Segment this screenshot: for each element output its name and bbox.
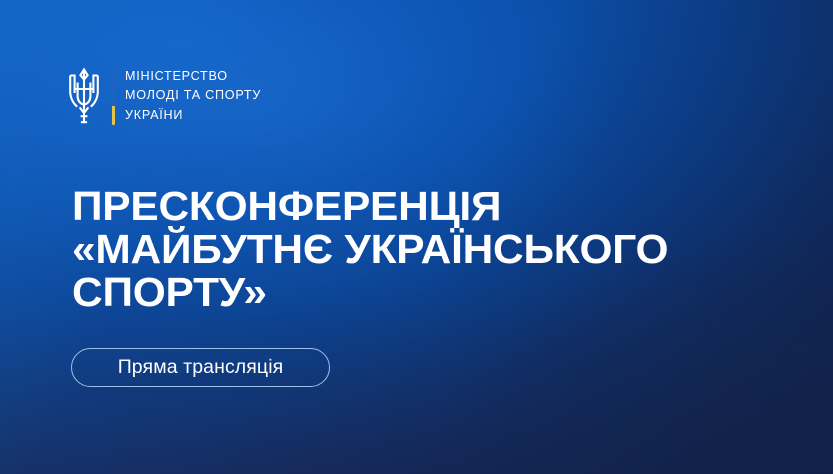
ministry-name-line-1: МІНІСТЕРСТВО — [125, 67, 261, 86]
headline-line-3: СПОРТУ» — [72, 271, 797, 314]
banner-content: МІНІСТЕРСТВО МОЛОДІ ТА СПОРТУ УКРАЇНИ ПР… — [0, 0, 833, 474]
ministry-name-line-2: МОЛОДІ ТА СПОРТУ — [125, 86, 261, 105]
press-conference-banner: МІНІСТЕРСТВО МОЛОДІ ТА СПОРТУ УКРАЇНИ ПР… — [0, 0, 833, 474]
ministry-logo: МІНІСТЕРСТВО МОЛОДІ ТА СПОРТУ УКРАЇНИ — [67, 66, 261, 126]
logo-divider-yellow-segment — [112, 106, 115, 125]
headline: ПРЕСКОНФЕРЕНЦІЯ «МАЙБУТНЄ УКРАЇНСЬКОГО С… — [72, 185, 772, 314]
headline-line-1: ПРЕСКОНФЕРЕНЦІЯ — [72, 185, 797, 228]
live-broadcast-badge[interactable]: Пряма трансляція — [71, 348, 330, 387]
headline-line-2: «МАЙБУТНЄ УКРАЇНСЬКОГО — [72, 228, 797, 271]
ukraine-trident-icon — [67, 66, 101, 126]
ministry-name-line-3: УКРАЇНИ — [125, 106, 261, 125]
ministry-name: МІНІСТЕРСТВО МОЛОДІ ТА СПОРТУ УКРАЇНИ — [125, 67, 261, 125]
logo-divider-blue-segment — [112, 67, 115, 106]
live-broadcast-label: Пряма трансляція — [118, 358, 284, 378]
logo-divider-bar — [112, 67, 115, 125]
